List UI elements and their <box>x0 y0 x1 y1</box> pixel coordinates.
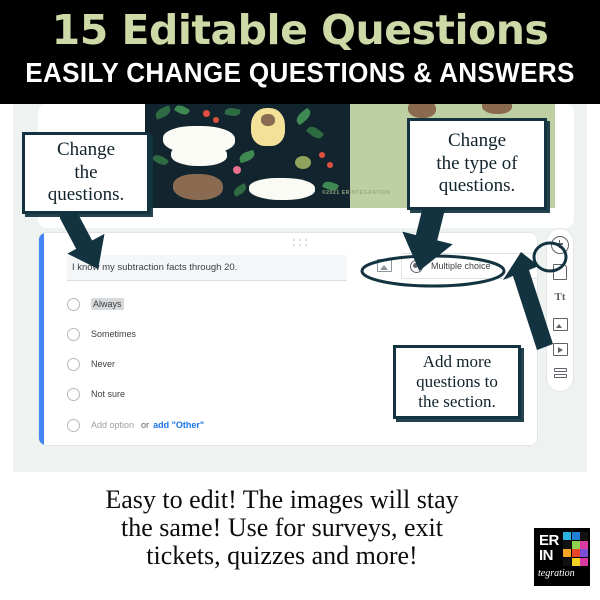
footer-caption: Easy to edit! The images will stay the s… <box>32 486 532 570</box>
callout-line: Add more <box>416 352 498 372</box>
logo-line2: IN <box>539 548 559 563</box>
callout-line: the type of <box>436 153 517 175</box>
option-label[interactable]: Not sure <box>91 389 125 399</box>
callout-line: Change <box>436 130 517 152</box>
or-label: or <box>141 420 149 430</box>
callout-line: the section. <box>416 392 498 412</box>
section-icon[interactable] <box>554 368 567 380</box>
footer-caption-line1: Easy to edit! The images will stay <box>32 486 532 514</box>
header-banner: 15 Editable Questions EASILY CHANGE QUES… <box>0 0 600 104</box>
option-row-1[interactable]: Sometimes <box>67 323 507 345</box>
page-subtitle: EASILY CHANGE QUESTIONS & ANSWERS <box>21 56 579 90</box>
option-label[interactable]: Never <box>91 359 115 369</box>
add-other-link[interactable]: add "Other" <box>153 420 204 430</box>
callout-change-questions: Change the questions. <box>22 132 150 214</box>
callout-line: questions. <box>436 175 517 197</box>
option-radio-icon <box>67 419 80 432</box>
erintegration-logo: ER IN tegration <box>534 528 590 586</box>
logo-line1: ER <box>539 533 559 548</box>
option-radio-icon[interactable] <box>67 298 80 311</box>
banner-image-left <box>145 104 350 208</box>
add-option-label[interactable]: Add option <box>91 420 134 430</box>
option-radio-icon[interactable] <box>67 328 80 341</box>
logo-subtext: tegration <box>538 569 575 579</box>
highlight-ellipse-question-type <box>358 252 508 290</box>
option-label[interactable]: Always <box>91 298 124 310</box>
active-question-accent-bar <box>39 233 44 445</box>
logo-pixel-grid <box>563 532 587 565</box>
drag-handle-icon[interactable] <box>293 239 309 247</box>
callout-add-more-questions: Add more questions to the section. <box>393 345 521 419</box>
callout-line: questions to <box>416 372 498 392</box>
banner-right-margin <box>555 104 574 208</box>
footer-caption-line2: the same! Use for surveys, exit <box>32 514 532 542</box>
option-label[interactable]: Sometimes <box>91 329 136 339</box>
page-title: 15 Editable Questions <box>0 4 600 56</box>
screenshot-root: 15 Editable Questions EASILY CHANGE QUES… <box>0 0 600 600</box>
option-radio-icon[interactable] <box>67 358 80 371</box>
callout-line: questions. <box>48 184 125 206</box>
callout-line: the <box>48 162 125 184</box>
callout-line: Change <box>48 139 125 161</box>
option-row-0[interactable]: Always × <box>67 293 507 315</box>
copyright-watermark: ©2021 ERINTEGRATION <box>322 190 391 196</box>
option-radio-icon[interactable] <box>67 388 80 401</box>
callout-change-type: Change the type of questions. <box>407 118 547 210</box>
logo-text: ER IN <box>539 533 559 563</box>
footer-caption-line3: tickets, quizzes and more! <box>32 542 532 570</box>
